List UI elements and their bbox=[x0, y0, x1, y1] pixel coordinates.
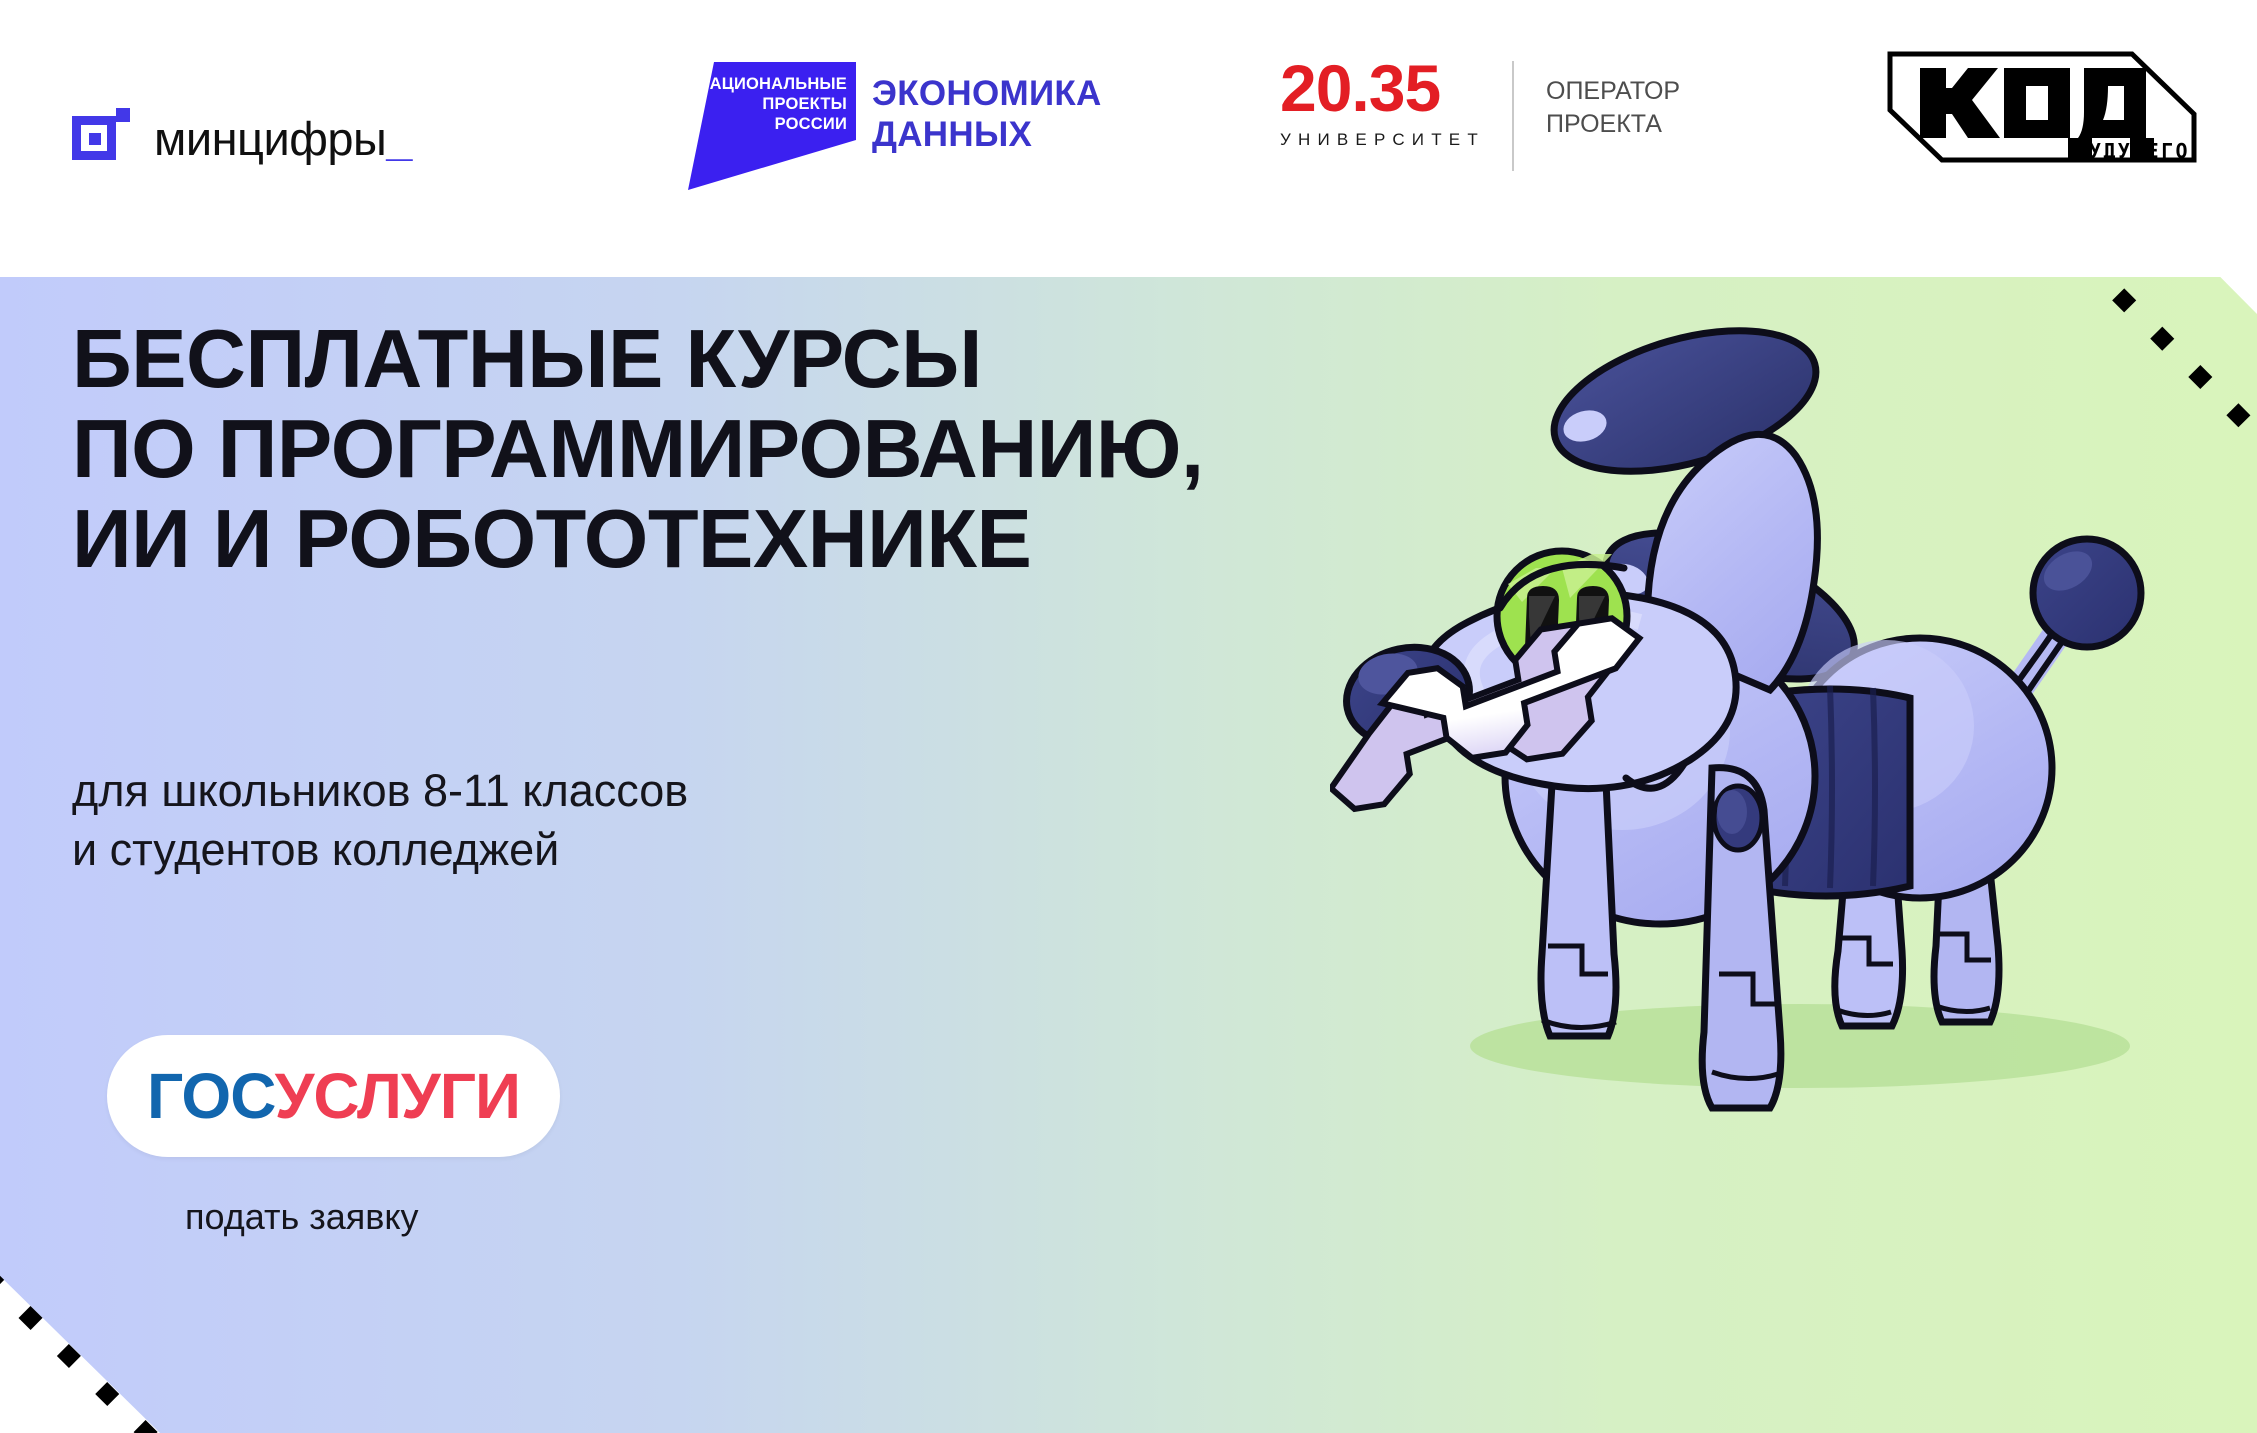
subhead-line-1: для школьников 8-11 классов bbox=[72, 762, 688, 821]
kod-budushchego-subtitle: БУДУЩЕГО bbox=[2074, 139, 2190, 163]
project-operator-label: ОПЕРАТОР ПРОЕКТА bbox=[1546, 75, 1680, 141]
gosuslugi-wordmark: ГОСУСЛУГИ bbox=[147, 1064, 520, 1128]
mincifry-wordmark: минцифры_ bbox=[154, 115, 412, 162]
gosuslugi-label-red: УСЛУГИ bbox=[275, 1060, 520, 1132]
national-projects-flag-text: НАЦИОНАЛЬНЫЕ ПРОЕКТЫ РОССИИ bbox=[676, 74, 856, 134]
banner: БЕСПЛАТНЫЕ КУРСЫ ПО ПРОГРАММИРОВАНИЮ, ИИ… bbox=[0, 196, 2257, 1433]
headline-line-1: БЕСПЛАТНЫЕ КУРСЫ bbox=[72, 314, 1204, 404]
robot-dog-mascot bbox=[1330, 306, 2230, 1136]
headline-line-3: ИИ И РОБОТОТЕХНИКЕ bbox=[72, 494, 1204, 584]
gosuslugi-button[interactable]: ГОСУСЛУГИ bbox=[107, 1035, 560, 1157]
submit-application-caption[interactable]: подать заявку bbox=[185, 1196, 419, 1238]
page-title: БЕСПЛАТНЫЕ КУРСЫ ПО ПРОГРАММИРОВАНИЮ, ИИ… bbox=[72, 314, 1204, 584]
kod-budushchego-icon: БУДУЩЕГО bbox=[1882, 36, 2202, 166]
mincifry-underscore: _ bbox=[386, 115, 412, 162]
headline-line-2: ПО ПРОГРАММИРОВАНИЮ, bbox=[72, 404, 1204, 494]
gosuslugi-label-blue: ГОС bbox=[147, 1060, 275, 1132]
economy-of-data-title: ЭКОНОМИКА ДАННЫХ bbox=[872, 74, 1102, 155]
logo-divider bbox=[1512, 61, 1514, 171]
university-2035-logo[interactable]: 20.35 УНИВЕРСИТЕТ ОПЕРАТОР ПРОЕКТА bbox=[1280, 55, 1680, 185]
logo-bar: минцифры_ НАЦИОНАЛЬНЫЕ ПРОЕКТЫ РОССИИ ЭК… bbox=[0, 0, 2257, 277]
mincifry-logo[interactable]: минцифры_ bbox=[72, 108, 412, 168]
national-projects-logo[interactable]: НАЦИОНАЛЬНЫЕ ПРОЕКТЫ РОССИИ ЭКОНОМИКА ДА… bbox=[676, 62, 1096, 192]
banner-content: БЕСПЛАТНЫЕ КУРСЫ ПО ПРОГРАММИРОВАНИЮ, ИИ… bbox=[0, 196, 1300, 1433]
mincifry-square-dot-icon bbox=[72, 108, 132, 168]
kod-budushchego-logo[interactable]: БУДУЩЕГО bbox=[1882, 36, 2202, 166]
leg-front-left bbox=[1541, 782, 1616, 1036]
subhead-line-2: и студентов колледжей bbox=[72, 821, 688, 880]
page-subtitle: для школьников 8-11 классов и студентов … bbox=[72, 762, 688, 879]
